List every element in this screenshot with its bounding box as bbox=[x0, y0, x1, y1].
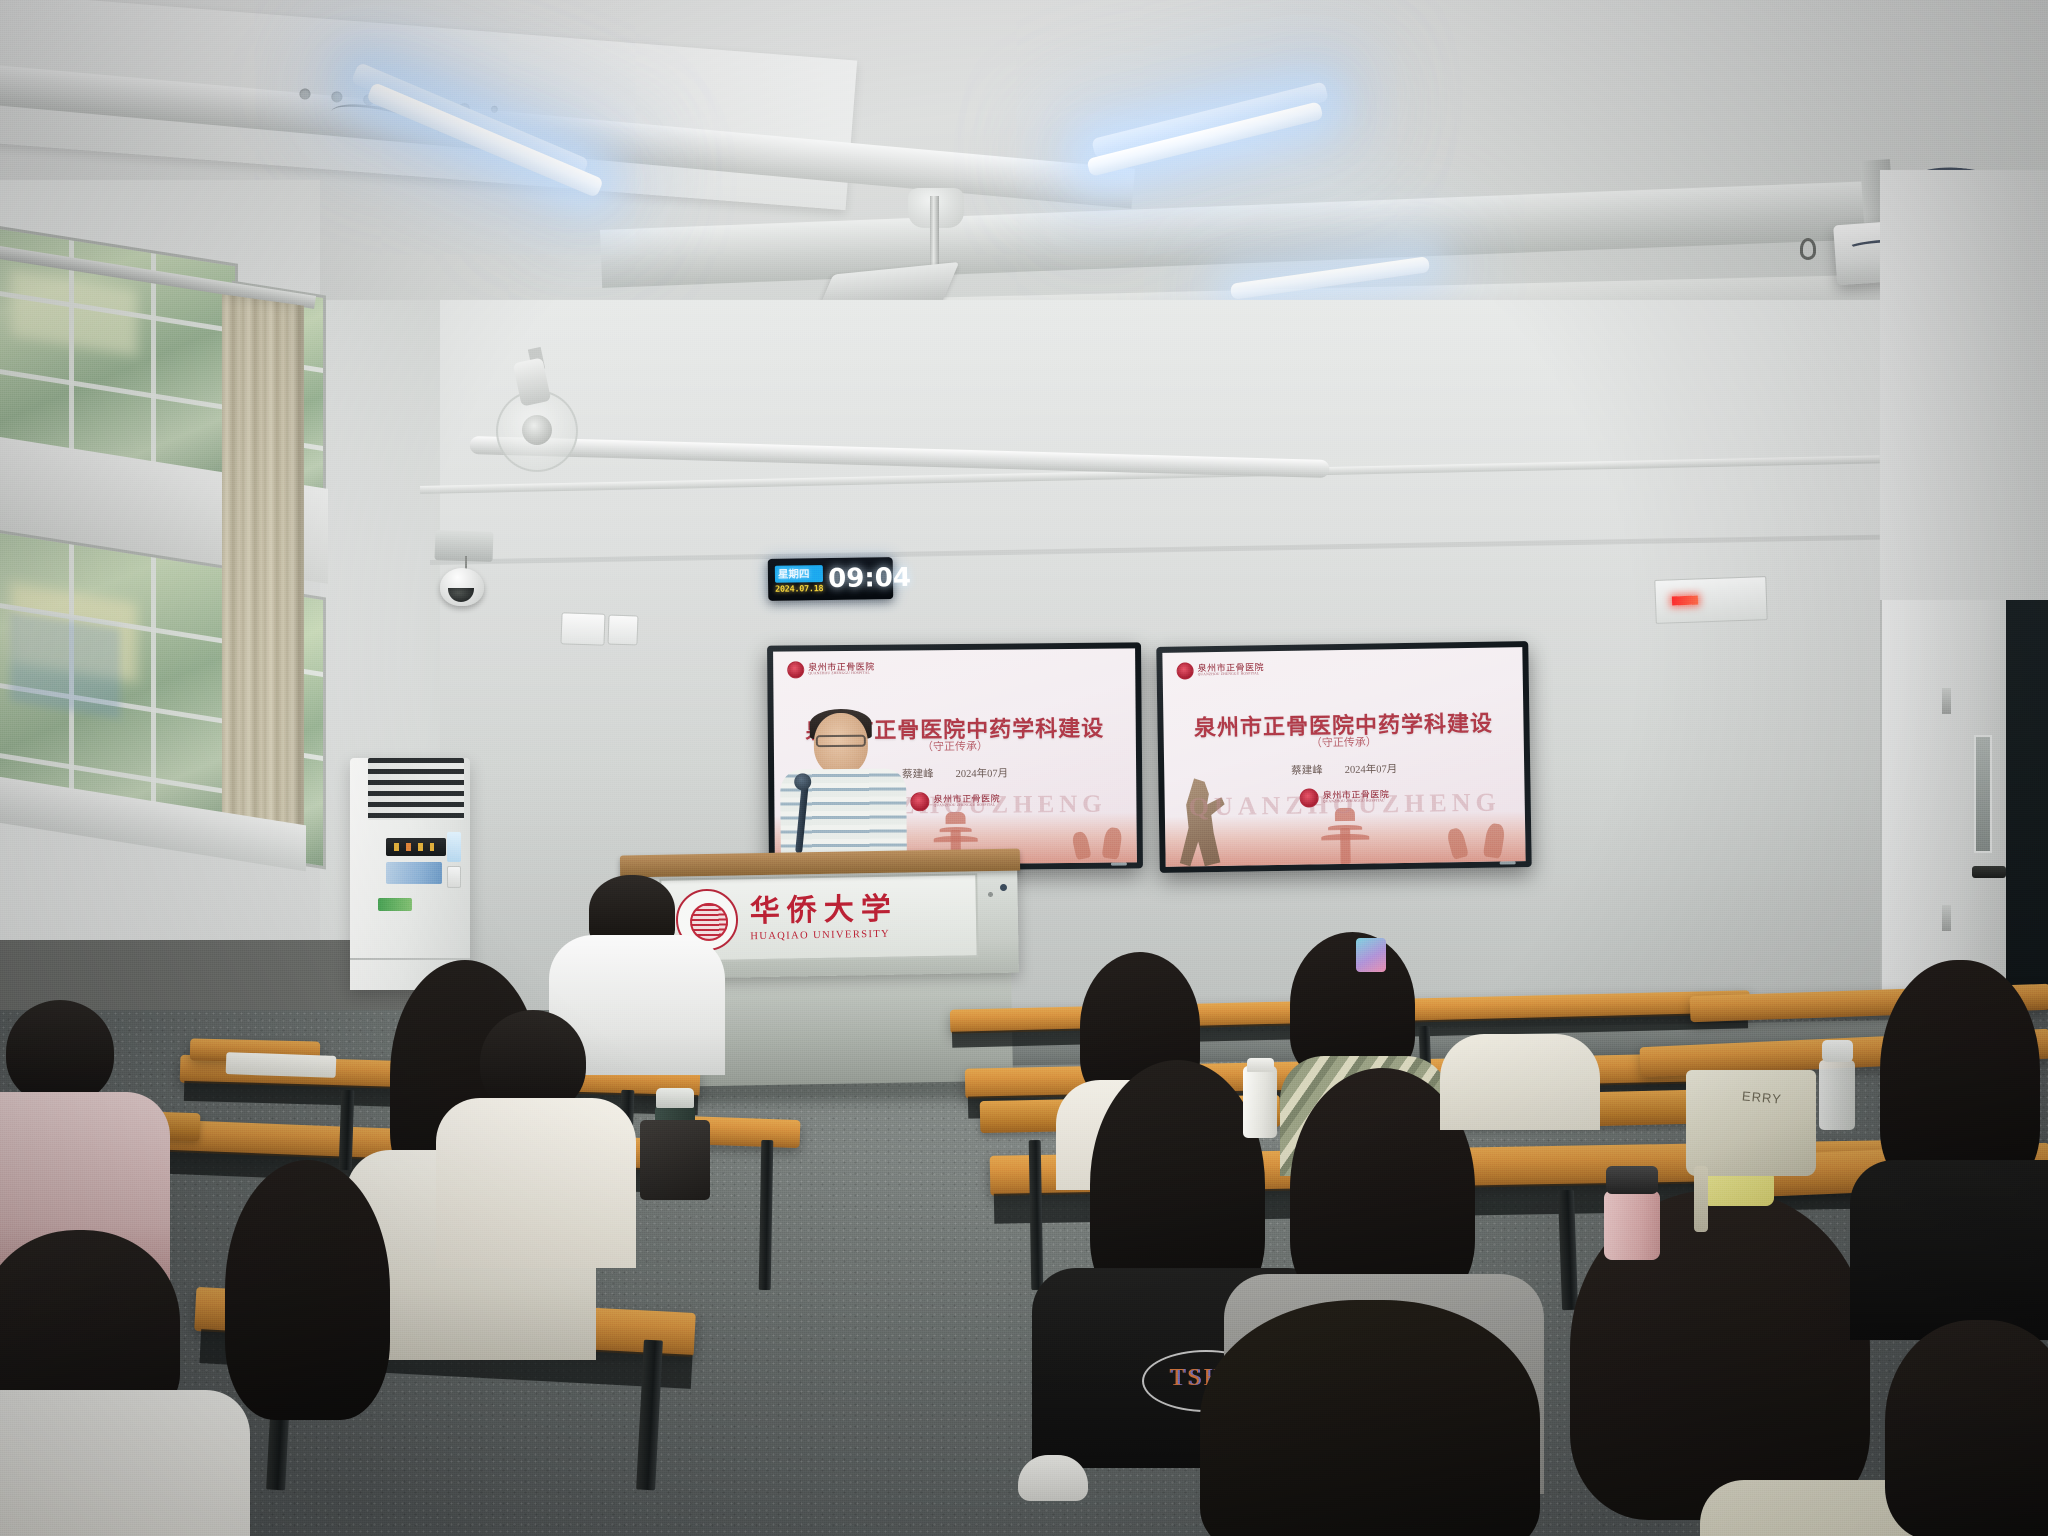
clock-time: 09:04 bbox=[828, 565, 911, 592]
bottle-cap bbox=[1247, 1058, 1274, 1072]
person-torso bbox=[1440, 1034, 1600, 1130]
person-hair bbox=[1880, 960, 2040, 1190]
bottle-cap bbox=[1822, 1040, 1853, 1062]
tote-bag-strap bbox=[1694, 1166, 1708, 1232]
water-bottle[interactable] bbox=[1243, 1066, 1277, 1138]
screen-power-led bbox=[1111, 863, 1127, 866]
person-torso bbox=[436, 1098, 636, 1268]
display-screen-left[interactable]: QUANZHOUZHENG 泉州市正骨医院 QUANZHOU ZHENGGU H… bbox=[767, 642, 1143, 871]
door-hinge bbox=[1942, 905, 1951, 931]
person-hair bbox=[6, 1000, 114, 1104]
paper-sheet[interactable] bbox=[226, 1052, 337, 1078]
slide-presenter: 蔡建峰 bbox=[1291, 762, 1323, 777]
water-bottle[interactable] bbox=[1819, 1060, 1855, 1130]
door-handle[interactable] bbox=[1972, 866, 2006, 878]
desk-leg bbox=[339, 1090, 355, 1170]
person-hair bbox=[1200, 1300, 1540, 1536]
wall-fan-hub bbox=[522, 415, 552, 445]
presenter-person bbox=[780, 712, 907, 865]
hospital-logo-text: 泉州市正骨医院 QUANZHOU ZHENGGU HOSPITAL bbox=[1198, 663, 1265, 677]
hospital-seal-icon bbox=[1176, 662, 1193, 679]
air-conditioner-grille bbox=[368, 758, 464, 820]
podium-control-button[interactable] bbox=[988, 892, 993, 897]
slide-byline: 蔡建峰 2024年07月 bbox=[1164, 759, 1524, 780]
cable-hook bbox=[1800, 238, 1816, 260]
presentation-slide-left: QUANZHOUZHENG 泉州市正骨医院 QUANZHOU ZHENGGU H… bbox=[773, 648, 1137, 865]
hair-clip-icon bbox=[1356, 938, 1386, 972]
thermos-bottle[interactable] bbox=[1604, 1190, 1660, 1260]
person-hair bbox=[225, 1160, 390, 1420]
podium-control-button[interactable] bbox=[1000, 884, 1007, 891]
presentation-slide-right: QUANZHOUZHENG 泉州市正骨医院 QUANZHOU ZHENGGU H… bbox=[1162, 647, 1525, 867]
air-conditioner-logo bbox=[378, 898, 412, 911]
classroom-photo: 星期四 2024.07.18 09:04 QUANZHOUZHENG 泉州市正骨… bbox=[0, 0, 2048, 1536]
clock-date: 2024.07.18 bbox=[775, 584, 823, 595]
hospital-logo-right: 泉州市正骨医院 QUANZHOU ZHENGGU HOSPITAL bbox=[1176, 661, 1264, 679]
glasses-icon bbox=[816, 735, 866, 747]
door-hinge bbox=[1942, 688, 1951, 714]
hospital-seal-icon bbox=[911, 792, 930, 811]
clock-weekday: 星期四 bbox=[775, 565, 823, 583]
curtain[interactable] bbox=[222, 294, 304, 866]
bottle-lid bbox=[656, 1088, 694, 1108]
microphone-head-icon bbox=[794, 773, 811, 790]
energy-label bbox=[447, 832, 461, 862]
window-reflection bbox=[10, 611, 120, 718]
hospital-seal-icon bbox=[1300, 788, 1319, 807]
hospital-logo-left: 泉州市正骨医院 QUANZHOU ZHENGGU HOSPITAL bbox=[787, 661, 875, 679]
slide-date: 2024年07月 bbox=[956, 766, 1009, 781]
air-conditioner-sticker bbox=[386, 862, 442, 884]
air-conditioner-seam bbox=[350, 958, 470, 960]
university-name-en: HUAQIAO UNIVERSITY bbox=[750, 928, 898, 942]
wall-outlet[interactable] bbox=[607, 614, 638, 645]
hospital-logo-text: 泉州市正骨医院 QUANZHOU ZHENGGU HOSPITAL bbox=[808, 663, 875, 676]
wall-outlet[interactable] bbox=[560, 612, 605, 646]
person-hair bbox=[1885, 1320, 2048, 1536]
screen-power-led bbox=[1500, 861, 1516, 864]
hospital-logo-text: 泉州市正骨医院 QUANZHOU ZHENGGU HOSPITAL bbox=[934, 795, 1001, 808]
hospital-seal-icon bbox=[787, 661, 804, 678]
backpack[interactable] bbox=[640, 1120, 710, 1200]
door-window bbox=[1974, 735, 1992, 853]
air-conditioner-display bbox=[386, 838, 446, 856]
university-name-cn: 华侨大学 bbox=[750, 894, 899, 927]
person-torso bbox=[1850, 1160, 2048, 1340]
digital-wall-clock: 星期四 2024.07.18 09:04 bbox=[768, 557, 894, 601]
bottle-lid bbox=[1606, 1166, 1658, 1194]
shoe bbox=[1018, 1455, 1088, 1501]
hospital-logo-text: 泉州市正骨医院 QUANZHOU ZHENGGU HOSPITAL bbox=[1323, 790, 1390, 804]
tote-bag[interactable] bbox=[1686, 1070, 1816, 1176]
person-torso bbox=[0, 1390, 250, 1536]
slide-presenter: 蔡建峰 bbox=[902, 766, 934, 781]
display-screen-right[interactable]: QUANZHOUZHENG 泉州市正骨医院 QUANZHOU ZHENGGU H… bbox=[1156, 641, 1532, 873]
slide-date: 2024年07月 bbox=[1345, 761, 1398, 777]
air-conditioner-badge bbox=[447, 866, 461, 888]
status-led-icon bbox=[1672, 596, 1698, 606]
junction-box bbox=[434, 530, 493, 562]
